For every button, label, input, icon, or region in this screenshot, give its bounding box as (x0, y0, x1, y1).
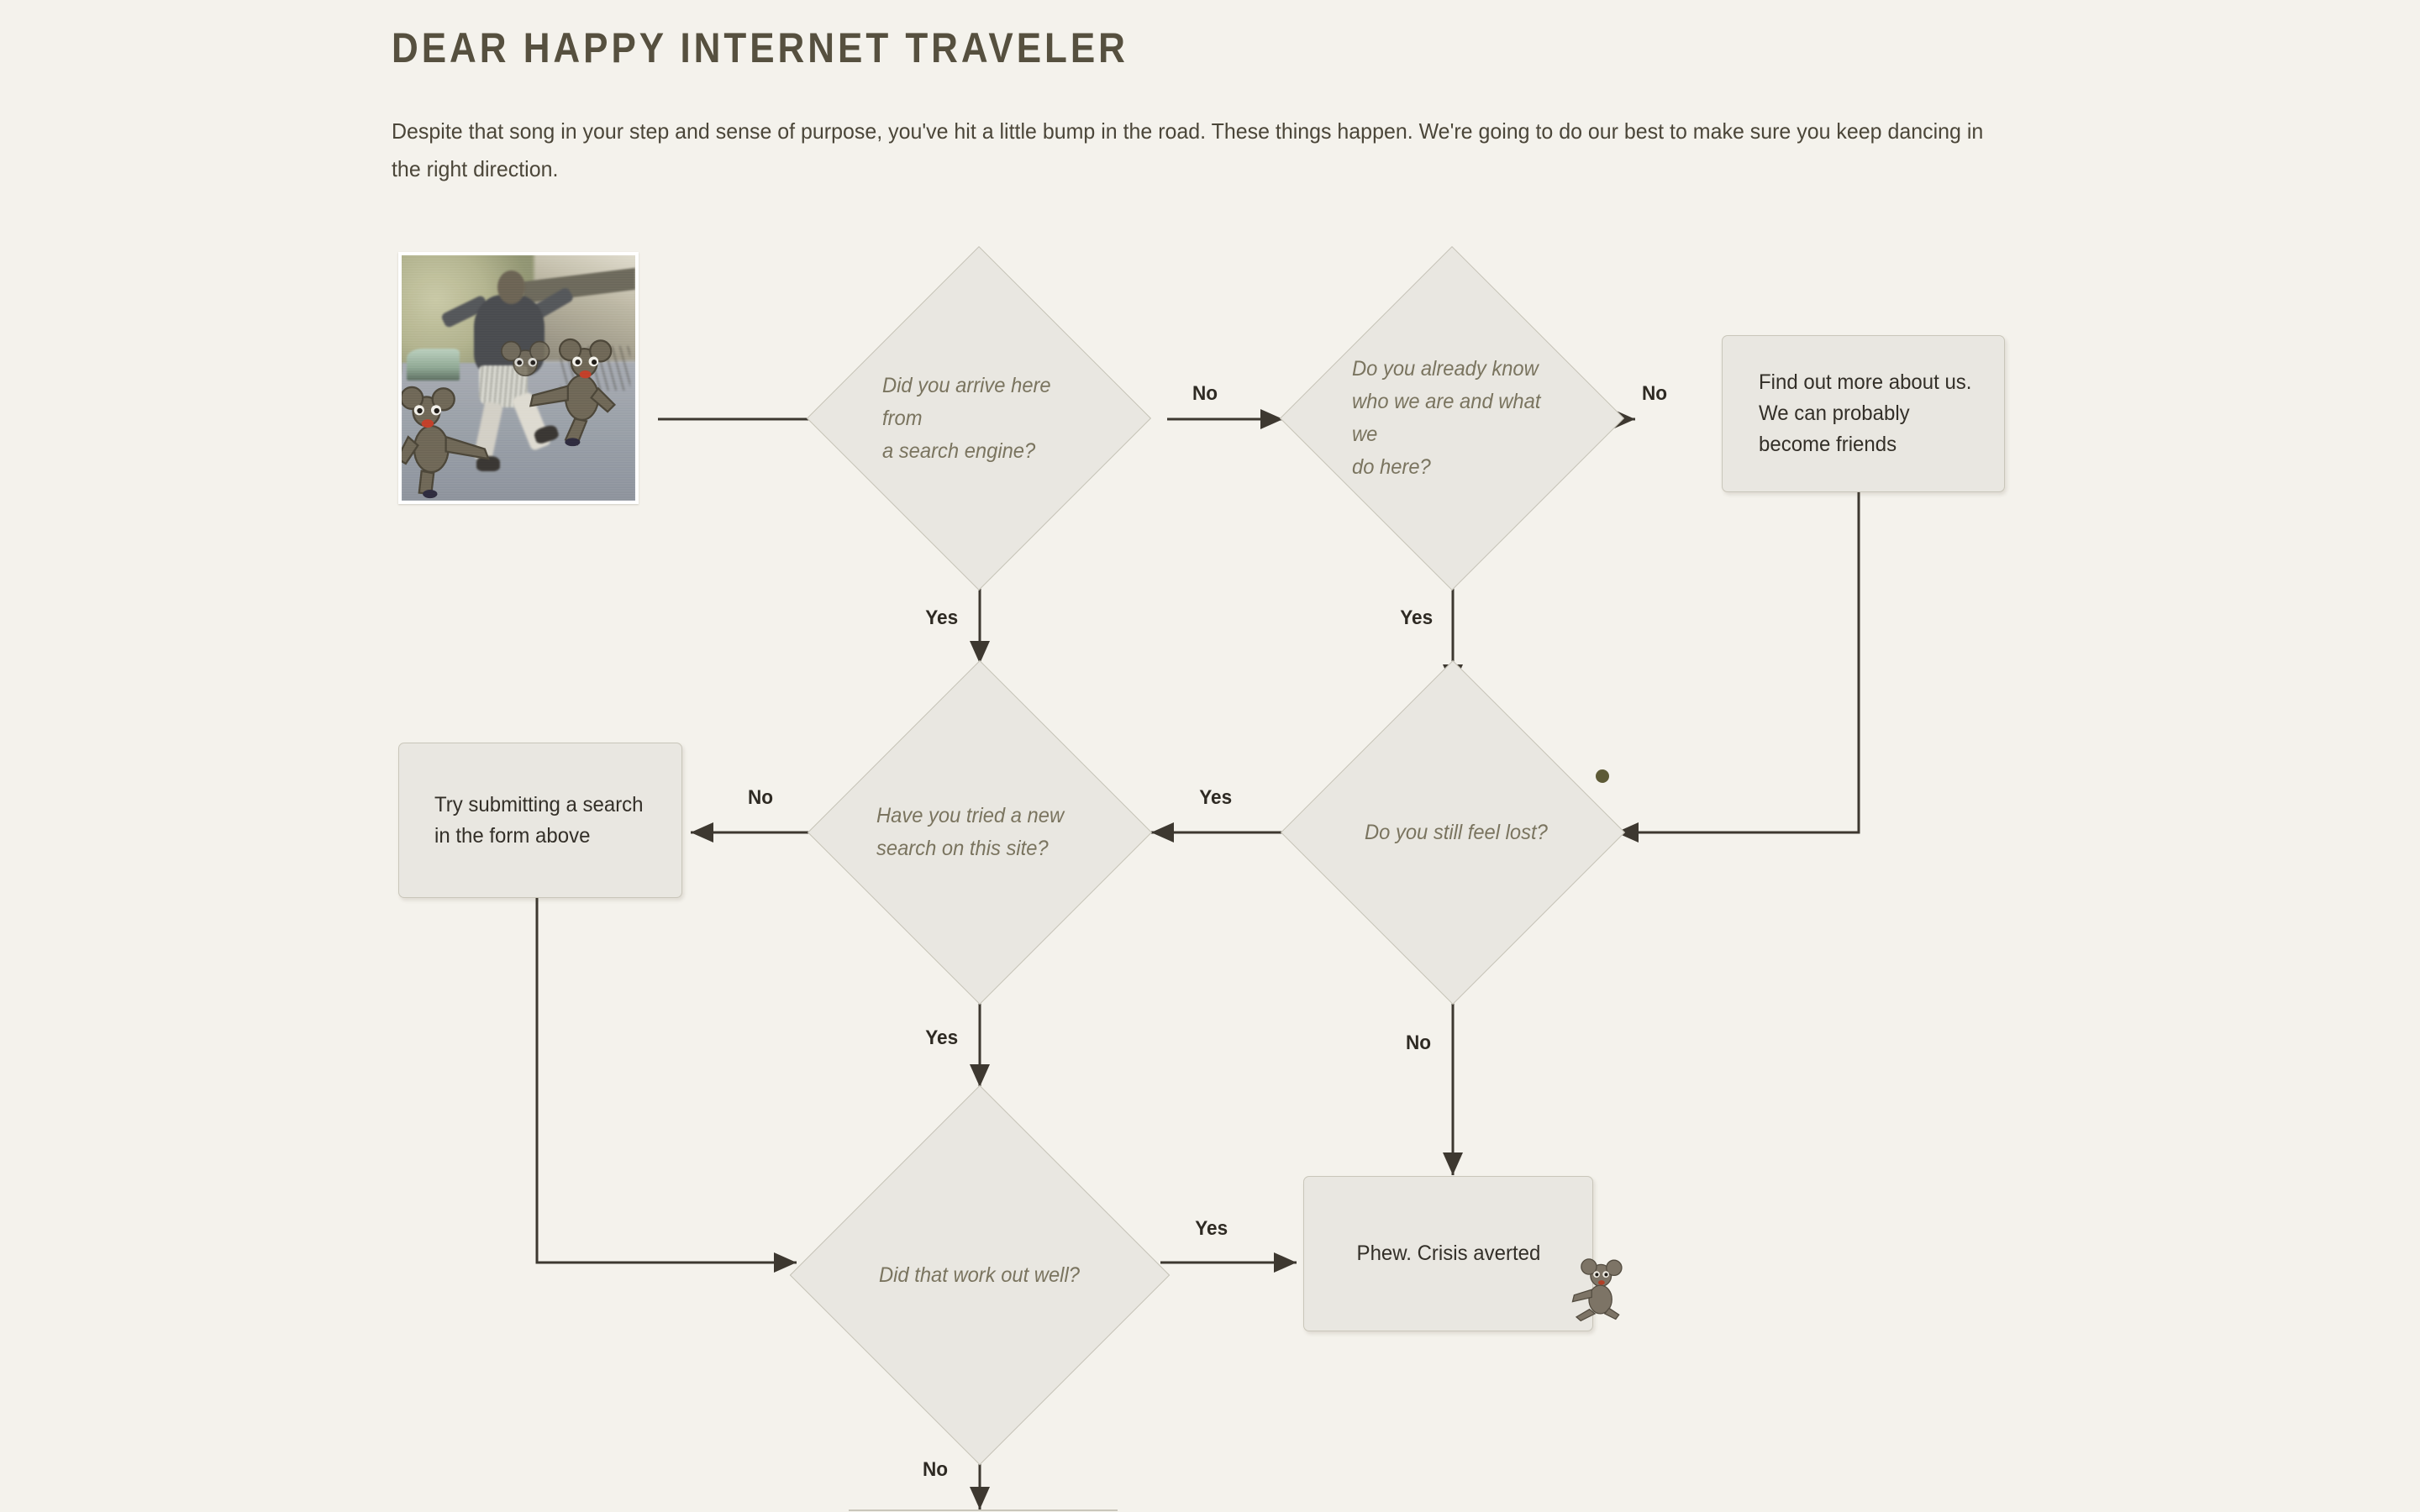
decision-q5-work-out-well[interactable]: Did that work out well? (845, 1141, 1114, 1410)
edge-label-q4-no: No (1406, 1032, 1431, 1055)
flowchart-connectors (0, 0, 2420, 1512)
decision-q2-know-us[interactable]: Do you already know who we are and what … (1330, 297, 1574, 540)
action-try-submitting-search-label: Try submitting a search in the form abov… (434, 790, 644, 852)
edge-label-q1-no: No (1192, 382, 1218, 406)
decision-q2-label: Do you already know who we are and what … (1352, 353, 1563, 484)
error-page: Dear Happy Internet Traveler Despite tha… (0, 0, 2420, 1512)
decorative-dot (1596, 769, 1609, 783)
page-title: Dear Happy Internet Traveler (392, 24, 1128, 72)
edge-label-q2-yes: Yes (1400, 606, 1433, 630)
dancing-man-photo (398, 252, 639, 504)
action-find-out-more[interactable]: Find out more about us. We can probably … (1722, 335, 2005, 492)
edge-label-q5-no: No (923, 1458, 948, 1482)
koala-mascot-icon (1570, 1256, 1626, 1321)
page-intro-paragraph: Despite that song in your step and sense… (392, 113, 1996, 188)
decision-q5-label: Did that work out well? (879, 1259, 1102, 1292)
action-find-out-more-label: Find out more about us. We can probably … (1759, 367, 1971, 460)
decision-q4-label: Do you still feel lost? (1365, 816, 1565, 849)
edge-label-q4-yes: Yes (1199, 786, 1232, 810)
action-try-submitting-search[interactable]: Try submitting a search in the form abov… (398, 743, 682, 898)
edge-label-q3-yes: Yes (925, 1026, 958, 1050)
action-crisis-averted[interactable]: Phew. Crisis averted (1303, 1176, 1593, 1331)
edge-label-q2-no: No (1642, 382, 1667, 406)
decision-q1-search-engine[interactable]: Did you arrive here from a search engine… (857, 297, 1101, 540)
decision-q3-tried-new-search[interactable]: Have you tried a new search on this site… (858, 711, 1102, 954)
decision-q1-label: Did you arrive here from a search engine… (882, 370, 1090, 468)
edge-label-q3-no: No (748, 786, 773, 810)
edge-label-q1-yes: Yes (925, 606, 958, 630)
edge-a1-to-q4 (1616, 492, 1859, 832)
action-crisis-averted-label: Phew. Crisis averted (1356, 1238, 1540, 1269)
decision-q4-still-lost[interactable]: Do you still feel lost? (1331, 711, 1575, 954)
decision-q3-label: Have you tried a new search on this site… (876, 800, 1091, 865)
edge-a2-to-q5 (537, 898, 797, 1263)
edge-label-q5-yes: Yes (1195, 1217, 1228, 1241)
